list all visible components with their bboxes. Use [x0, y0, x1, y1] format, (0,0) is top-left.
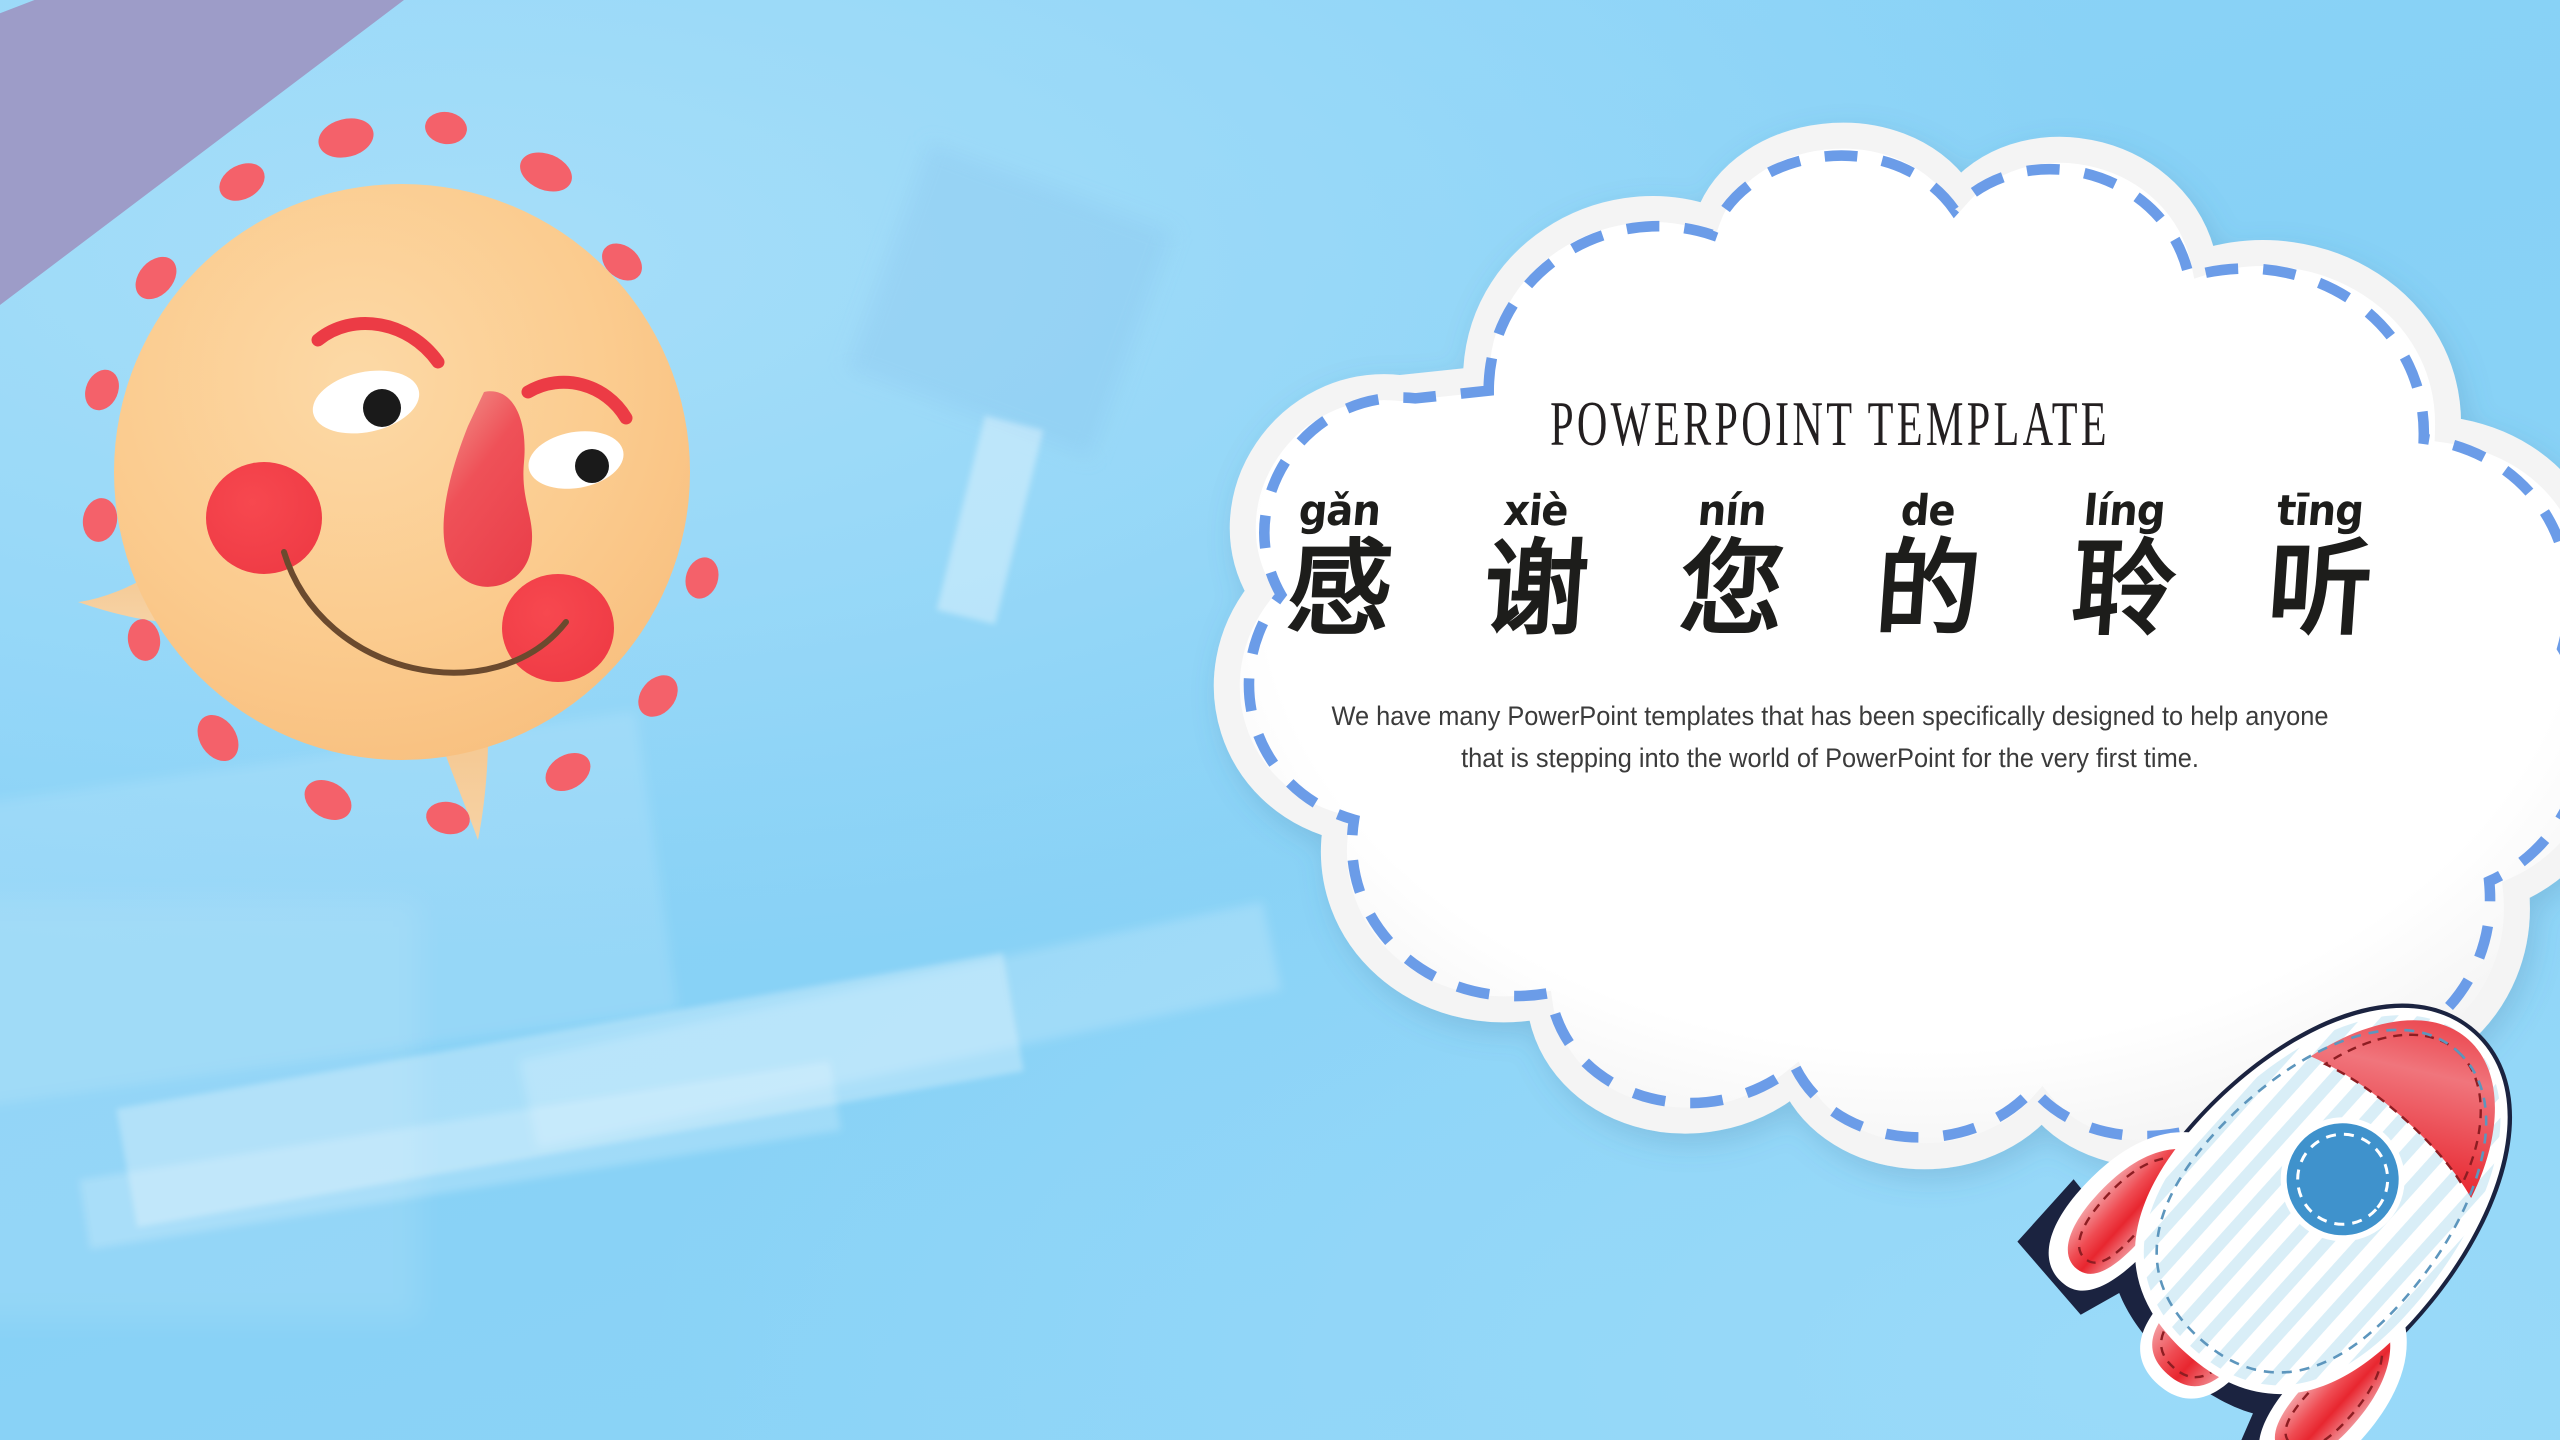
sun-cheek-left [206, 462, 322, 574]
slide-canvas: POWERPOINT TEMPLATE gǎn 感 xiè 谢 nín 您 de… [0, 0, 2560, 1440]
smiling-sun-illustration [60, 100, 760, 900]
